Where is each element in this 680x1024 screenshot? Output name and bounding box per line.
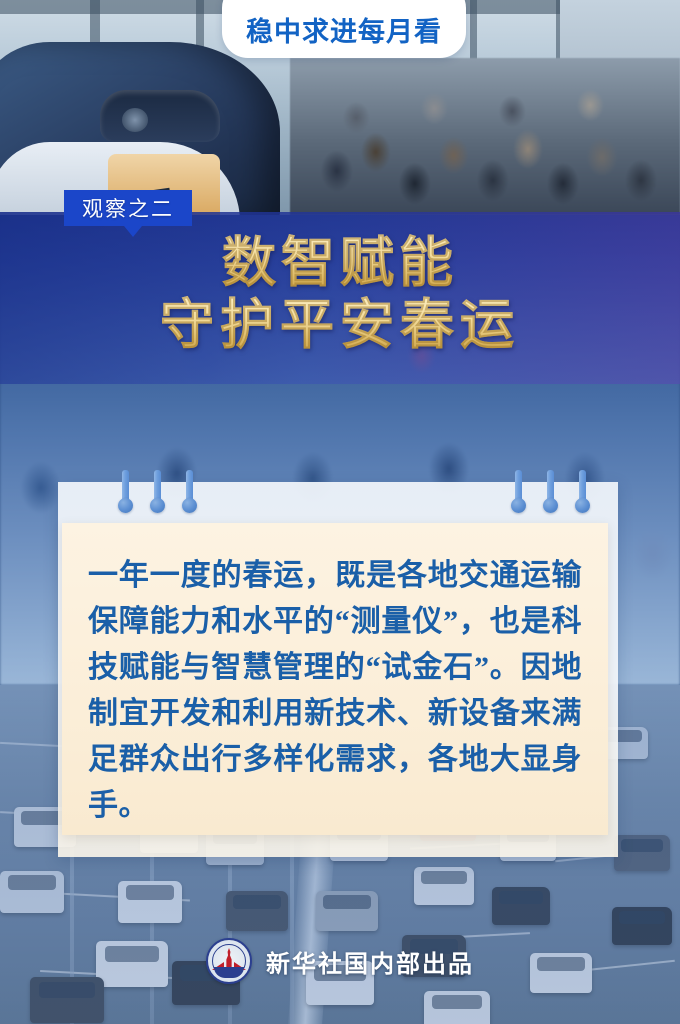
train-windshield <box>100 90 220 142</box>
train-headlight <box>122 108 148 132</box>
note-card-body-text: 一年一度的春运，既是各地交通运输保障能力和水平的“测量仪”，也是科技赋能与智慧管… <box>88 553 582 829</box>
car <box>316 891 378 931</box>
title-line-2: 守护平安春运 <box>0 294 680 356</box>
car <box>614 835 670 871</box>
car <box>492 887 550 925</box>
series-badge: 稳中求进每月看 <box>222 0 466 58</box>
car <box>226 891 288 931</box>
note-card-inner: 一年一度的春运，既是各地交通运输保障能力和水平的“测量仪”，也是科技赋能与智慧管… <box>62 523 608 835</box>
platform-crowd <box>290 58 680 215</box>
page-title: 数智赋能 守护平安春运 <box>0 232 680 356</box>
xinhua-logo-icon <box>206 938 252 984</box>
poster-root: 观察之二 数智赋能 守护平安春运 稳中求进每月看 一年一度的春运，既是各地交通运… <box>0 0 680 1024</box>
car <box>414 867 474 905</box>
car <box>118 881 182 923</box>
footer: 新华社国内部出品 <box>0 938 680 984</box>
series-tag-label: 观察之二 <box>64 190 192 226</box>
footer-credit: 新华社国内部出品 <box>266 944 474 979</box>
series-tag: 观察之二 <box>64 190 192 226</box>
series-badge-label: 稳中求进每月看 <box>246 10 442 49</box>
car <box>0 871 64 913</box>
title-line-1: 数智赋能 <box>0 232 680 294</box>
car <box>424 991 490 1024</box>
